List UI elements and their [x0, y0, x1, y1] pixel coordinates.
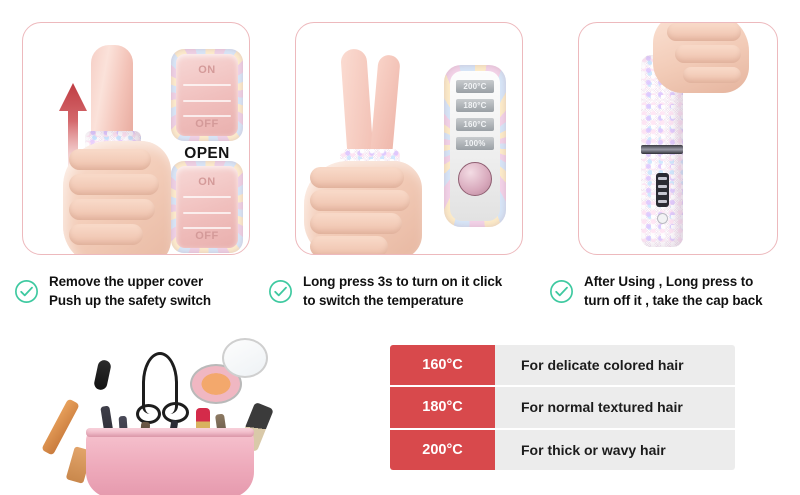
table-row: 200°C For thick or wavy hair: [390, 430, 735, 470]
temperature-value: 160°C: [390, 345, 495, 385]
pouch-zipper: [86, 428, 254, 437]
control-panel-face: 200°C 180°C 160°C 100%: [450, 71, 500, 221]
switch-face: ON OFF: [176, 54, 238, 136]
false-lashes-item: [93, 359, 112, 391]
step-caption-3: After Using , Long press to turn off it …: [549, 272, 762, 310]
infographic-root: ON OFF OPEN ON OFF LOCK: [0, 0, 800, 495]
check-circle-icon: [14, 279, 39, 304]
cosmetic-bag-photo: [18, 330, 318, 495]
switch-face: ON OFF: [176, 166, 238, 248]
switch-off-label: OFF: [176, 230, 238, 242]
step-panel-1: ON OFF OPEN ON OFF LOCK: [22, 22, 250, 255]
switch-ridge: [183, 115, 231, 117]
led-temp-180: 180°C: [456, 99, 494, 112]
pink-pouch: [86, 430, 254, 495]
device-cap: [91, 45, 133, 137]
switch-diagram-open: ON OFF OPEN: [171, 49, 243, 163]
table-row: 160°C For delicate colored hair: [390, 345, 735, 387]
check-circle-icon: [268, 279, 293, 304]
step-caption-2: Long press 3s to turn on it click to swi…: [268, 272, 502, 310]
caption-text: After Using , Long press to turn off it …: [584, 272, 762, 310]
temperature-value: 200°C: [390, 430, 495, 470]
switch-on-label: ON: [176, 64, 238, 76]
switch-ridge: [183, 227, 231, 229]
switch-housing: ON OFF: [171, 161, 243, 253]
caption-text: Long press 3s to turn on it click to swi…: [303, 272, 502, 310]
step-panel-2: 200°C 180°C 160°C 100%: [295, 22, 523, 255]
step-caption-1: Remove the upper cover Push up the safet…: [14, 272, 211, 310]
temperature-guide-table: 160°C For delicate colored hair 180°C Fo…: [390, 345, 735, 470]
switch-ridge: [183, 100, 231, 102]
power-button[interactable]: [657, 213, 668, 224]
temperature-description: For delicate colored hair: [495, 345, 735, 385]
switch-housing: ON OFF: [171, 49, 243, 141]
switch-ridge: [183, 84, 231, 86]
switch-ridge: [183, 196, 231, 198]
heating-plate-left: [340, 48, 374, 162]
control-panel-closeup: 200°C 180°C 160°C 100%: [444, 65, 506, 227]
hand-holding-device: [653, 22, 749, 93]
device-led-indicator: [656, 173, 669, 207]
hand-holding-device: [304, 161, 422, 255]
hand-holding-device: [63, 141, 171, 255]
switch-on-label: ON: [176, 176, 238, 188]
switch-diagram-lock: ON OFF LOCK: [171, 161, 243, 255]
device-cap-seam: [641, 145, 683, 154]
temperature-description: For thick or wavy hair: [495, 430, 735, 470]
led-temp-200: 200°C: [456, 80, 494, 93]
led-temp-160: 160°C: [456, 118, 494, 131]
temperature-value: 180°C: [390, 387, 495, 427]
table-row: 180°C For normal textured hair: [390, 387, 735, 429]
temperature-description: For normal textured hair: [495, 387, 735, 427]
compact-mirror-lid: [222, 338, 268, 378]
eyelash-curler-handle-left: [136, 404, 161, 424]
caption-text: Remove the upper cover Push up the safet…: [49, 272, 211, 310]
switch-off-label: OFF: [176, 118, 238, 130]
led-battery-level: 100%: [456, 137, 494, 150]
step-panel-3: [578, 22, 778, 255]
power-button[interactable]: [458, 162, 492, 196]
switch-ridge: [183, 212, 231, 214]
check-circle-icon: [549, 279, 574, 304]
